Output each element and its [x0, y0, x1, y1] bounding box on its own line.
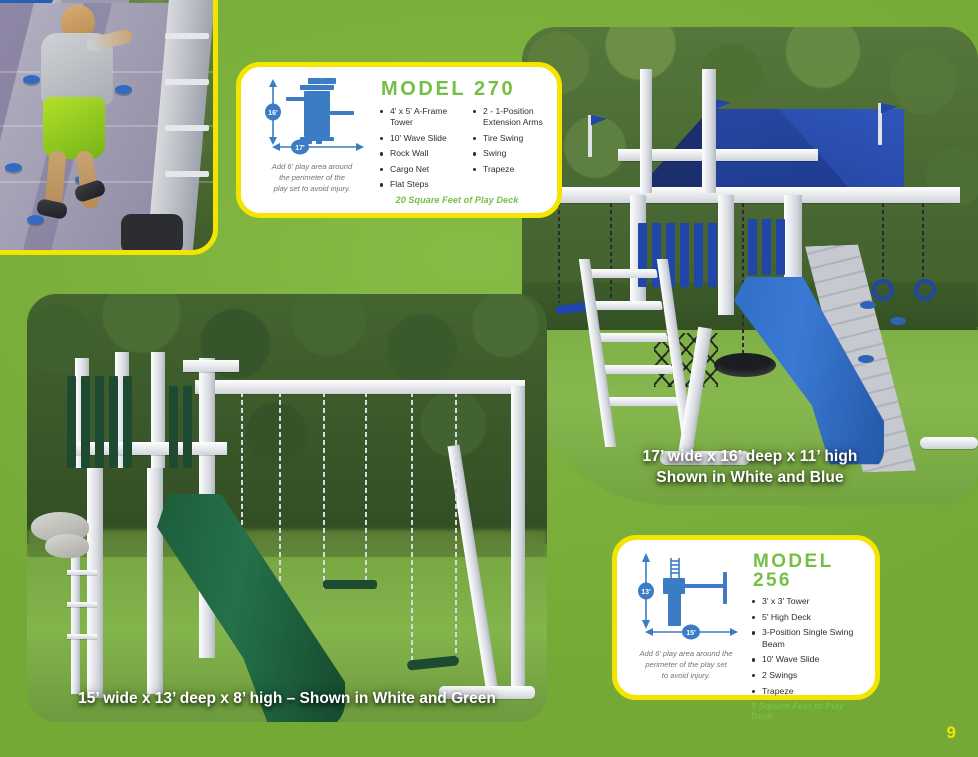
deck-picket — [762, 219, 771, 275]
gable-post — [640, 69, 652, 193]
deck-picket — [81, 376, 90, 468]
model-270-deck-note: 20 Square Feet of Play Deck — [379, 195, 545, 207]
tower-post — [718, 195, 734, 315]
green-playset-caption: 15’ wide x 13’ deep x 8’ high – Shown in… — [27, 690, 547, 708]
tower-post — [87, 468, 103, 698]
note-line: the perimeter of the — [272, 173, 352, 184]
deck-picket — [123, 376, 132, 468]
swing-chain — [558, 203, 560, 303]
step — [584, 269, 657, 278]
tire-swing-chain — [742, 203, 744, 357]
photo-boy-climbing-rock-wall — [0, 0, 218, 255]
model-270-diagram-svg: 16' 17' — [256, 77, 368, 159]
gable-post — [702, 69, 716, 193]
swing-chain — [455, 392, 457, 660]
card-256-content: MODEL 256 3' x 3' Tower 5' High Deck 3-P… — [745, 550, 863, 685]
page-number: 9 — [947, 723, 956, 743]
blue-caption-line2: Shown in White and Blue — [522, 468, 978, 489]
top-beam — [540, 187, 960, 203]
ladder-rung — [165, 33, 209, 39]
step — [595, 333, 668, 342]
model-256-diagram-svg: 13' 15' — [630, 550, 742, 646]
ladder-rung — [67, 570, 97, 575]
model-270-footprint-diagram: 16' 17' — [256, 77, 368, 159]
model-270-feature-columns: 4' x 5' A-Frame Tower 10' Wave Slide Roc… — [379, 106, 545, 195]
ladder-rung — [67, 602, 97, 607]
model-256-footprint-diagram: 13' 15' — [630, 550, 742, 646]
deck-picket — [95, 376, 104, 468]
deck-picket — [183, 386, 192, 468]
feature-item: 10' Wave Slide — [379, 133, 458, 144]
blue-caption-line1: 17’ wide x 16’ deep x 11’ high — [522, 447, 978, 468]
climbing-hold — [860, 301, 876, 309]
child-shorts — [43, 97, 105, 159]
model-256-width-label: 15' — [686, 630, 696, 637]
model-256-play-area-note: Add 6' play area around the perimeter of… — [639, 649, 732, 681]
tire-swing — [714, 353, 776, 377]
model-270-height-label: 16' — [268, 110, 278, 117]
feature-item: Trapeze — [751, 686, 863, 697]
feature-item: Cargo Net — [379, 164, 458, 175]
deck-rail — [67, 442, 227, 455]
ladder-rung — [165, 171, 209, 177]
swing-beam — [195, 380, 525, 394]
deck-picket — [169, 386, 178, 468]
deck-picket — [67, 376, 76, 468]
tower-top-beam — [183, 360, 239, 372]
swing-chain — [411, 392, 413, 660]
feature-item: 3-Position Single Swing Beam — [751, 627, 863, 649]
deck-picket — [109, 376, 118, 468]
feature-item: 4' x 5' A-Frame Tower — [379, 106, 458, 128]
feature-item: Swing — [472, 148, 545, 159]
card-256-diagram-column: 13' 15' Add 6' play area around the peri… — [627, 550, 745, 685]
card-270-content: MODEL 270 4' x 5' A-Frame Tower 10' Wave… — [373, 77, 545, 203]
feature-item: 5' High Deck — [751, 612, 863, 623]
feature-item: 10' Wave Slide — [751, 654, 863, 665]
trapeze-chain — [279, 392, 281, 582]
spec-card-model-256: 13' 15' Add 6' play area around the peri… — [612, 535, 880, 700]
model-256-title: MODEL 256 — [753, 552, 863, 590]
rock-wall-scene — [0, 0, 213, 250]
feature-item: Flat Steps — [379, 179, 458, 190]
note-line: to avoid injury. — [639, 671, 732, 682]
climbing-hold — [858, 355, 874, 363]
deck-picket — [708, 223, 717, 287]
flag — [588, 115, 592, 157]
deck-picket — [748, 219, 757, 275]
swing-chain — [323, 392, 325, 592]
ladder-rung — [165, 125, 209, 131]
tower-post — [147, 468, 163, 694]
feature-item: 2 - 1-Position Extension Arms — [472, 106, 545, 128]
trapeze-ring — [872, 279, 894, 301]
ladder-rung — [165, 79, 209, 85]
flag — [878, 103, 882, 145]
spec-card-model-270: 16' 17' Add 6' play area around the peri… — [236, 62, 562, 218]
step — [605, 397, 678, 406]
feature-item: Trapeze — [472, 164, 545, 175]
climbing-hold — [5, 163, 22, 172]
note-line: Add 6' play area around the — [639, 649, 732, 660]
feature-item: 3' x 3' Tower — [751, 596, 863, 607]
feature-item: Tire Swing — [472, 133, 545, 144]
note-line: play set to avoid injury. — [272, 184, 352, 195]
trapeze-chain — [922, 203, 924, 281]
deck-picket — [776, 219, 785, 275]
model-256-features-col1: 3' x 3' Tower 5' High Deck 3-Position Si… — [751, 596, 863, 701]
feature-item: Rock Wall — [379, 148, 458, 159]
card-270-diagram-column: 16' 17' Add 6' play area around the peri… — [251, 77, 373, 203]
model-256-deck-note: 9 Square Feet of Play Deck — [751, 701, 863, 723]
model-270-play-area-note: Add 6' play area around the perimeter of… — [272, 162, 352, 194]
equipment-bag — [121, 214, 183, 254]
trapeze-chain — [882, 203, 884, 281]
model-270-features-col2: 2 - 1-Position Extension Arms Tire Swing… — [472, 106, 545, 195]
landscape-rock — [45, 534, 89, 558]
feature-item: 2 Swings — [751, 670, 863, 681]
model-270-title: MODEL 270 — [381, 79, 545, 99]
trapeze-bar — [323, 580, 377, 589]
model-270-width-label: 17' — [295, 145, 305, 152]
blue-playset-caption: 17’ wide x 16’ deep x 11’ high Shown in … — [522, 447, 978, 489]
child-shoe — [36, 198, 69, 220]
climbing-hold — [115, 85, 132, 94]
deck-picket — [694, 223, 703, 287]
note-line: perimeter of the play set — [639, 660, 732, 671]
photo-white-and-blue-playset: 17’ wide x 16’ deep x 11’ high Shown in … — [522, 27, 978, 505]
model-256-height-label: 13' — [641, 589, 651, 596]
deck-picket — [680, 223, 689, 287]
ladder-rail — [71, 544, 80, 694]
model-270-features-col1: 4' x 5' A-Frame Tower 10' Wave Slide Roc… — [379, 106, 458, 195]
trapeze-ring — [914, 279, 936, 301]
ladder-rung — [67, 634, 97, 639]
photo-white-and-green-playset: 15’ wide x 13’ deep x 8’ high – Shown in… — [27, 294, 547, 722]
climbing-hold — [890, 317, 906, 325]
swing-beam-post — [511, 386, 525, 686]
step — [600, 365, 673, 374]
model-256-feature-columns: 3' x 3' Tower 5' High Deck 3-Position Si… — [751, 596, 863, 701]
note-line: Add 6' play area around — [272, 162, 352, 173]
swing-chain — [365, 392, 367, 592]
step — [589, 301, 662, 310]
child-figure — [27, 5, 117, 220]
